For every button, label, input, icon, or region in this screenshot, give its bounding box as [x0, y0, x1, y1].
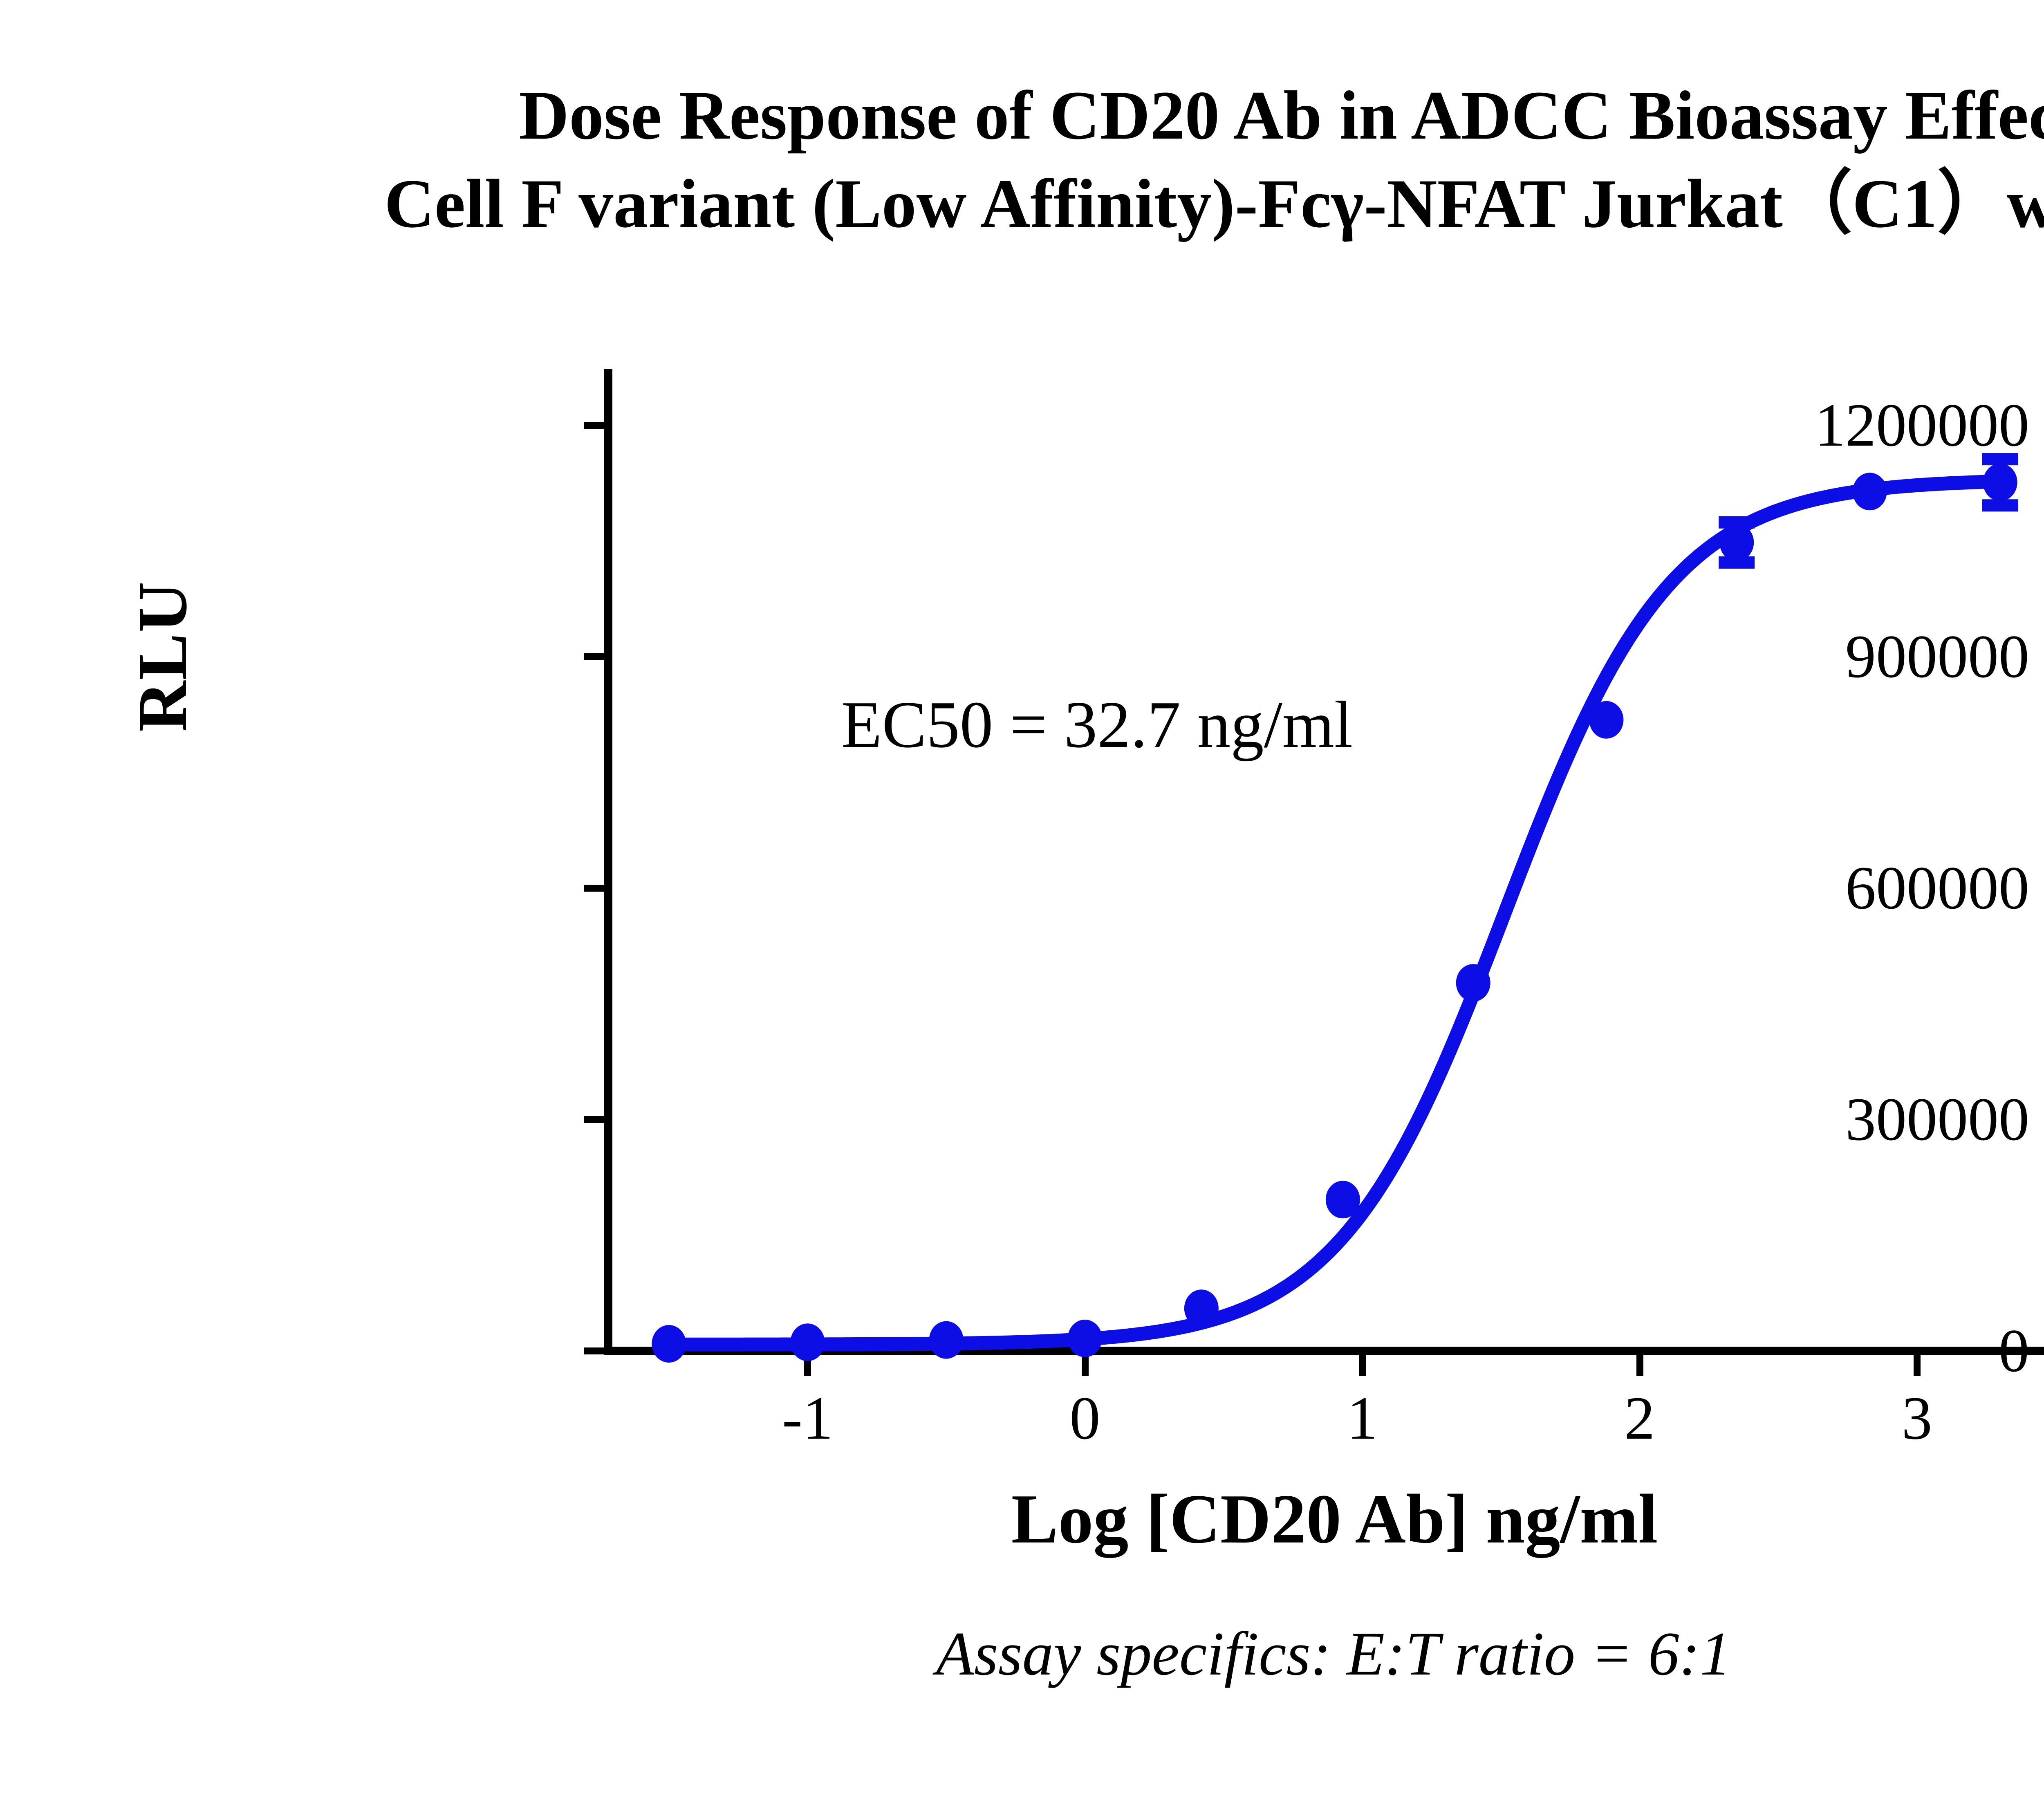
- data-point-marker: [929, 1321, 964, 1359]
- ec50-annotation: EC50 = 32.7 ng/ml: [841, 692, 1353, 758]
- x-axis-tick-label: 3: [1902, 1388, 1932, 1449]
- figure-caption: Assay specifics: E:T ratio = 6:1: [0, 1618, 2044, 1689]
- data-point-marker: [1853, 473, 1887, 510]
- data-point-marker: [1719, 524, 1754, 561]
- x-axis-tick-label: -1: [782, 1388, 833, 1449]
- data-point-marker: [1326, 1181, 1360, 1218]
- chart-figure: Dose Response of CD20 Ab in ADCC Bioassa…: [0, 0, 2044, 1798]
- x-axis-tick: [1636, 1351, 1643, 1376]
- data-point-marker: [1068, 1320, 1102, 1357]
- y-axis-tick: [584, 422, 608, 429]
- y-axis-title: RLU: [123, 581, 203, 732]
- data-point-marker: [1983, 464, 2017, 501]
- y-axis-tick: [584, 653, 608, 660]
- x-axis-tick-label: 1: [1347, 1388, 1378, 1449]
- data-point-marker: [1456, 964, 1490, 1002]
- x-axis-tick-label: 2: [1624, 1388, 1655, 1449]
- page-title: Dose Response of CD20 Ab in ADCC Bioassa…: [0, 72, 2044, 248]
- data-point-marker: [652, 1325, 686, 1363]
- y-axis-tick: [584, 885, 608, 892]
- data-point-marker: [790, 1323, 825, 1361]
- y-axis-tick: [584, 1116, 608, 1123]
- y-axis-tick: [584, 1347, 608, 1354]
- title-line-1: Dose Response of CD20 Ab in ADCC Bioassa…: [0, 72, 2044, 160]
- x-axis-title: Log [CD20 Ab] ng/ml: [608, 1479, 2044, 1560]
- x-axis-tick: [1914, 1351, 1921, 1376]
- title-line-2: Cell F variant (Low Affinity)-Fcγ-NFAT J…: [0, 160, 2044, 248]
- x-axis-tick-label: 0: [1069, 1388, 1100, 1449]
- plot-area: 03000006000009000001200000 -10123: [608, 371, 2044, 1351]
- data-point-marker: [1589, 701, 1623, 739]
- data-series-layer: [608, 371, 2044, 1351]
- data-point-marker: [1184, 1289, 1219, 1327]
- x-axis-tick: [1359, 1351, 1366, 1376]
